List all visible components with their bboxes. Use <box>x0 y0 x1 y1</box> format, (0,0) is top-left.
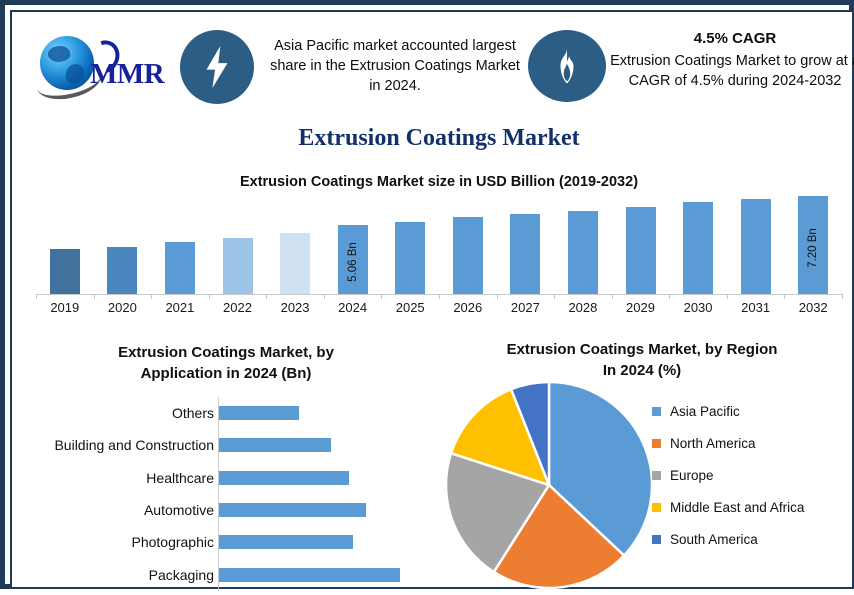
application-bar-building-and-construction <box>219 438 331 452</box>
application-title-line2: Application in 2024 (Bn) <box>141 365 312 382</box>
year-label-2023: 2023 <box>266 300 324 315</box>
application-bar-packaging <box>219 568 400 582</box>
year-label-2020: 2020 <box>93 300 151 315</box>
legend-label: Europe <box>670 468 714 483</box>
bar-2019 <box>50 249 80 295</box>
application-title-line1: Extrusion Coatings Market, by <box>118 344 334 361</box>
region-pie-chart <box>444 380 654 590</box>
application-label-packaging: Packaging <box>149 567 214 583</box>
legend-label: North America <box>670 436 756 451</box>
axis-tick <box>381 294 382 299</box>
axis-tick <box>842 294 843 299</box>
application-row: Photographic <box>24 526 428 558</box>
application-label-building-and-construction: Building and Construction <box>54 437 214 453</box>
axis-tick <box>612 294 613 299</box>
year-label-2028: 2028 <box>554 300 612 315</box>
bar-chart: 5.06 Bn7.20 Bn <box>36 190 842 295</box>
region-title-line1: Extrusion Coatings Market, by Region <box>507 341 778 358</box>
axis-tick <box>497 294 498 299</box>
cagr-description: Extrusion Coatings Market to grow at a C… <box>610 53 854 89</box>
axis-tick <box>36 294 37 299</box>
legend-item-north-america: North America <box>652 436 854 451</box>
bar-2030 <box>683 202 713 295</box>
bar-2020 <box>107 247 137 295</box>
region-title-line2: In 2024 (%) <box>603 362 681 379</box>
application-label-photographic: Photographic <box>131 534 214 550</box>
application-bar-chart: OthersBuilding and ConstructionHealthcar… <box>24 397 428 593</box>
year-label-2022: 2022 <box>209 300 267 315</box>
year-label-2026: 2026 <box>439 300 497 315</box>
bar-2021 <box>165 242 195 295</box>
axis-tick <box>94 294 95 299</box>
legend-swatch <box>652 471 661 480</box>
application-row: Packaging <box>24 559 428 591</box>
bar-2027 <box>510 214 540 295</box>
axis-tick <box>554 294 555 299</box>
bar-2029 <box>626 207 656 295</box>
axis-tick <box>266 294 267 299</box>
bar-2023 <box>280 233 310 295</box>
application-bar-automotive <box>219 503 366 517</box>
year-label-2021: 2021 <box>151 300 209 315</box>
year-label-2029: 2029 <box>612 300 670 315</box>
lightning-bolt-icon <box>180 30 254 104</box>
year-label-2024: 2024 <box>324 300 382 315</box>
axis-tick <box>669 294 670 299</box>
page-title: Extrusion Coatings Market <box>12 125 854 152</box>
bar-2025 <box>395 222 425 295</box>
bar-2024: 5.06 Bn <box>338 225 368 295</box>
header-highlight-asia-pacific: Asia Pacific market accounted largest sh… <box>264 36 526 96</box>
bar-value-label-2032: 7.20 Bn <box>807 228 819 268</box>
legend-swatch <box>652 503 661 512</box>
application-bar-healthcare <box>219 471 349 485</box>
axis-tick <box>324 294 325 299</box>
axis-tick <box>727 294 728 299</box>
header-highlight-cagr: 4.5% CAGR Extrusion Coatings Market to g… <box>610 29 854 91</box>
cagr-value: 4.5% CAGR <box>610 29 854 49</box>
axis-tick <box>209 294 210 299</box>
region-legend: Asia PacificNorth AmericaEuropeMiddle Ea… <box>652 404 854 564</box>
bar-value-label-2024: 5.06 Bn <box>347 242 359 282</box>
legend-item-asia-pacific: Asia Pacific <box>652 404 854 419</box>
region-chart-title: Extrusion Coatings Market, by Region In … <box>432 339 852 381</box>
legend-label: Middle East and Africa <box>670 500 804 515</box>
legend-label: Asia Pacific <box>670 404 740 419</box>
bar-2032: 7.20 Bn <box>798 196 828 295</box>
application-row: Building and Construction <box>24 429 428 461</box>
application-bar-others <box>219 406 299 420</box>
legend-item-europe: Europe <box>652 468 854 483</box>
mmr-logo: MMR <box>30 30 170 110</box>
application-label-automotive: Automotive <box>144 502 214 518</box>
application-label-healthcare: Healthcare <box>146 470 214 486</box>
bar-2028 <box>568 211 598 295</box>
bar-chart-title: Extrusion Coatings Market size in USD Bi… <box>12 174 854 190</box>
legend-label: South America <box>670 532 758 547</box>
legend-item-middle-east-and-africa: Middle East and Africa <box>652 500 854 515</box>
application-chart-title: Extrusion Coatings Market, by Applicatio… <box>24 342 428 384</box>
flame-icon <box>528 30 606 102</box>
year-label-2019: 2019 <box>36 300 94 315</box>
application-label-others: Others <box>172 405 214 421</box>
bar-2022 <box>223 238 253 295</box>
application-row: Others <box>24 397 428 429</box>
application-bar-photographic <box>219 535 353 549</box>
axis-tick <box>439 294 440 299</box>
infographic-frame: MMR Asia Pacific market accounted larges… <box>0 0 854 589</box>
logo-text: MMR <box>90 58 164 91</box>
application-row: Healthcare <box>24 462 428 494</box>
application-row: Automotive <box>24 494 428 526</box>
year-label-2027: 2027 <box>496 300 554 315</box>
year-label-2031: 2031 <box>727 300 785 315</box>
axis-tick <box>151 294 152 299</box>
infographic-inner-frame: MMR Asia Pacific market accounted larges… <box>10 10 854 589</box>
year-label-2030: 2030 <box>669 300 727 315</box>
axis-tick <box>784 294 785 299</box>
legend-swatch <box>652 407 661 416</box>
bar-2031 <box>741 199 771 295</box>
legend-item-south-america: South America <box>652 532 854 547</box>
bar-2026 <box>453 217 483 295</box>
year-label-2032: 2032 <box>784 300 842 315</box>
legend-swatch <box>652 439 661 448</box>
legend-swatch <box>652 535 661 544</box>
year-label-2025: 2025 <box>381 300 439 315</box>
